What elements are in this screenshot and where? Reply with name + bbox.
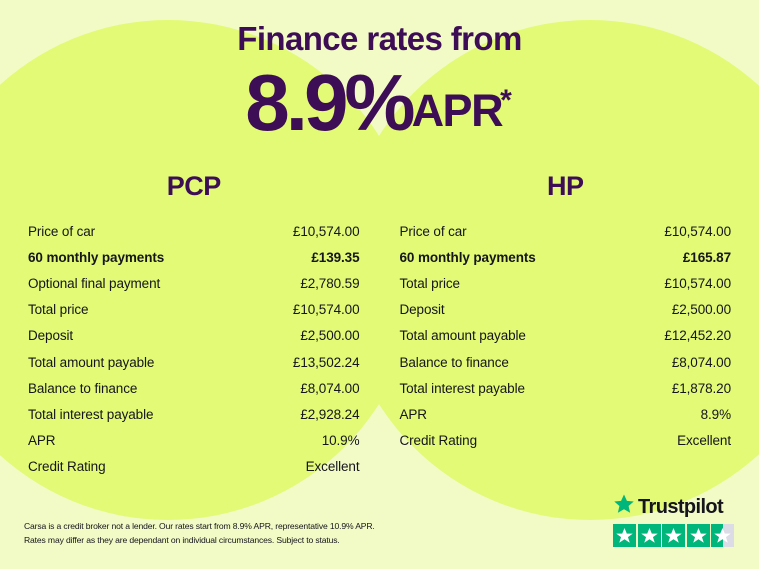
row-value: £10,574.00 (664, 224, 731, 239)
row-label: Deposit (28, 328, 73, 343)
plan-rows-hp: Price of car£10,574.00 60 monthly paymen… (396, 218, 736, 454)
row-value: Excellent (306, 459, 360, 474)
row-label: Deposit (400, 302, 445, 317)
row-value: £8,074.00 (672, 355, 731, 370)
row-value: 10.9% (322, 433, 360, 448)
page-title: Finance rates from (0, 0, 759, 55)
disclaimer-text: Carsa is a credit broker not a lender. O… (24, 520, 375, 547)
row-label: Balance to finance (400, 355, 509, 370)
row-value: £2,780.59 (300, 276, 359, 291)
row-label: Balance to finance (28, 381, 137, 396)
row-value: Excellent (677, 433, 731, 448)
row-label: 60 monthly payments (28, 250, 164, 265)
row-label: APR (400, 407, 427, 422)
table-row: Total amount payable£12,452.20 (396, 323, 736, 349)
table-row: Deposit£2,500.00 (24, 323, 364, 349)
table-row: 60 monthly payments£139.35 (24, 244, 364, 270)
table-row: Balance to finance£8,074.00 (24, 375, 364, 401)
row-label: Total amount payable (400, 328, 526, 343)
row-value: £2,500.00 (300, 328, 359, 343)
table-row: Optional final payment£2,780.59 (24, 270, 364, 296)
plan-title-pcp: PCP (24, 171, 364, 202)
row-value: £13,502.24 (293, 355, 360, 370)
table-row: Total price£10,574.00 (24, 297, 364, 323)
row-value: £10,574.00 (293, 224, 360, 239)
footer: Carsa is a credit broker not a lender. O… (0, 489, 759, 569)
finance-plans: PCP Price of car£10,574.00 60 monthly pa… (0, 171, 759, 480)
table-row: Balance to finance£8,074.00 (396, 349, 736, 375)
trustpilot-star-icon (613, 493, 635, 520)
row-label: Credit Rating (400, 433, 478, 448)
rate-value: 8.9% (245, 58, 411, 147)
rate-suffix: APR (412, 85, 503, 136)
headline-rate: 8.9%APR* (0, 63, 759, 143)
row-value: £2,928.24 (300, 407, 359, 422)
table-row: Total price£10,574.00 (396, 270, 736, 296)
row-label: Total price (400, 276, 460, 291)
row-label: APR (28, 433, 55, 448)
table-row: Credit RatingExcellent (396, 428, 736, 454)
row-value: £10,574.00 (664, 276, 731, 291)
row-value: £2,500.00 (672, 302, 731, 317)
row-label: Credit Rating (28, 459, 106, 474)
row-label: Total amount payable (28, 355, 154, 370)
row-value: 8.9% (701, 407, 731, 422)
table-row: APR8.9% (396, 401, 736, 427)
plan-rows-pcp: Price of car£10,574.00 60 monthly paymen… (24, 218, 364, 480)
row-label: 60 monthly payments (400, 250, 536, 265)
row-label: Total interest payable (400, 381, 525, 396)
table-row: Total amount payable£13,502.24 (24, 349, 364, 375)
row-value: £10,574.00 (293, 302, 360, 317)
row-label: Price of car (28, 224, 95, 239)
table-row: 60 monthly payments£165.87 (396, 244, 736, 270)
star-icon-filled (638, 524, 661, 547)
row-value: £165.87 (683, 250, 731, 265)
table-row: Credit RatingExcellent (24, 454, 364, 480)
table-row: Total interest payable£1,878.20 (396, 375, 736, 401)
row-label: Total interest payable (28, 407, 153, 422)
table-row: Total interest payable£2,928.24 (24, 401, 364, 427)
finance-rates-card: Finance rates from 8.9%APR* PCP Price of… (0, 0, 759, 569)
table-row: Deposit£2,500.00 (396, 297, 736, 323)
trustpilot-rating[interactable]: Trustpilot (613, 493, 737, 547)
plan-pcp: PCP Price of car£10,574.00 60 monthly pa… (8, 171, 380, 480)
disclaimer-line-2: Rates may differ as they are dependant o… (24, 534, 375, 547)
trustpilot-wordmark-text: Trustpilot (638, 497, 723, 517)
row-value: £139.35 (311, 250, 359, 265)
row-label: Total price (28, 302, 88, 317)
table-row: APR10.9% (24, 428, 364, 454)
plan-title-hp: HP (396, 171, 736, 202)
star-icon-filled (662, 524, 685, 547)
row-value: £1,878.20 (672, 381, 731, 396)
star-icon-filled (687, 524, 710, 547)
rate-asterisk: * (500, 84, 512, 117)
table-row: Price of car£10,574.00 (396, 218, 736, 244)
disclaimer-line-1: Carsa is a credit broker not a lender. O… (24, 520, 375, 533)
trustpilot-logo: Trustpilot (613, 493, 737, 520)
plan-hp: HP Price of car£10,574.00 60 monthly pay… (380, 171, 752, 480)
trustpilot-star-rating (613, 524, 737, 547)
row-label: Optional final payment (28, 276, 160, 291)
row-value: £12,452.20 (664, 328, 731, 343)
table-row: Price of car£10,574.00 (24, 218, 364, 244)
star-icon-filled (613, 524, 636, 547)
star-icon-half (711, 524, 734, 547)
row-value: £8,074.00 (300, 381, 359, 396)
row-label: Price of car (400, 224, 467, 239)
